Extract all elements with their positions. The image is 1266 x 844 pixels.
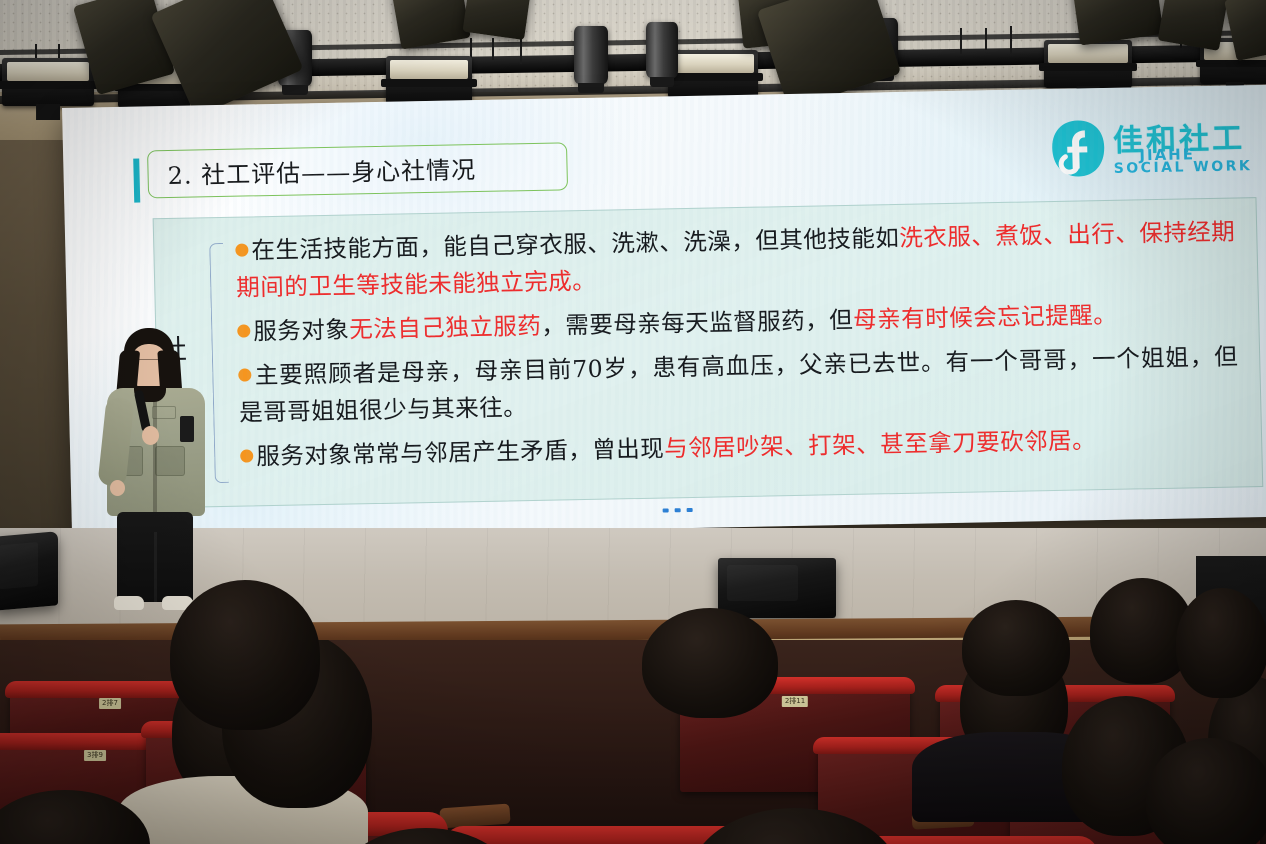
presenter-trousers — [117, 512, 193, 602]
bullet-segment: 服务对象常常与邻居产生矛盾，曾出现 — [256, 435, 665, 471]
stage-light-fixture — [2, 58, 94, 106]
cable-hook — [985, 28, 987, 50]
audience-member — [962, 600, 1070, 696]
seat-number-plate: 2排7 — [99, 698, 121, 709]
bullet-dot-icon — [240, 449, 253, 462]
page-dot — [663, 508, 669, 512]
stage-monitor-center — [718, 558, 836, 618]
audience-member — [170, 580, 320, 730]
slide-content: 2. 社工评估——身心社情况 佳和社工 JIAHE SOCIAL WORK 社 … — [62, 85, 1266, 540]
presenter-pocket-right — [155, 446, 185, 476]
seat-number-plate: 2排11 — [782, 696, 808, 707]
presenter-hand-right — [142, 426, 159, 445]
presenter-arm-patch — [180, 416, 194, 442]
seat-number-plate: 3排9 — [84, 750, 106, 761]
presenter-shoe-left — [114, 596, 144, 610]
slide-title: 2. 社工评估——身心社情况 — [167, 148, 568, 196]
stage-light-fixture — [386, 56, 472, 104]
presenter — [100, 328, 210, 618]
logo-name-en-line2: SOCIAL WORK — [1114, 158, 1253, 177]
page-dot — [675, 508, 681, 512]
organization-logo: 佳和社工 JIAHE SOCIAL WORK — [1048, 113, 1266, 185]
bullet-segment-highlight: 无法自己独立服药 — [349, 312, 542, 344]
stage-monitor-left — [0, 531, 58, 611]
presenter-chest-pocket — [152, 406, 176, 419]
title-accent-bar — [133, 159, 140, 203]
bullet-dot-icon — [238, 368, 251, 381]
audience-member — [642, 608, 778, 718]
bullet-segment: ，需要母亲每天监督服药，但 — [541, 306, 854, 340]
bullet-list: 在生活技能方面，能自己穿衣服、洗漱、洗澡，但其他技能如洗衣服、煮饭、出行、保持经… — [235, 214, 1241, 483]
bullet-segment: 主要照顾者是母亲，母亲目前70岁，患有高血压，父亲已去世。有一个哥哥，一个姐姐，… — [239, 342, 1239, 426]
bullet-segment: 服务对象 — [253, 316, 350, 346]
seat-armrest — [439, 804, 510, 829]
bullet-segment-highlight: 母亲有时候会忘记提醒。 — [853, 301, 1118, 334]
cable-hook — [960, 28, 962, 54]
cable-hook — [520, 36, 522, 64]
stage-light-fixture — [1044, 40, 1132, 88]
list-item: 主要照顾者是母亲，母亲目前70岁，患有高血压，父亲已去世。有一个哥哥，一个姐姐，… — [238, 338, 1240, 431]
screenshot-root: 2. 社工评估——身心社情况 佳和社工 JIAHE SOCIAL WORK 社 … — [0, 0, 1266, 844]
bullet-dot-icon — [235, 243, 248, 256]
stage-light-fixture — [668, 50, 758, 98]
projection-screen: 2. 社工评估——身心社情况 佳和社工 JIAHE SOCIAL WORK 社 … — [62, 85, 1266, 540]
par-can-light — [574, 26, 608, 84]
par-can-light — [646, 22, 678, 78]
bullet-segment-highlight: 与邻居吵架、打架、甚至拿刀要砍邻居。 — [664, 426, 1097, 462]
cable-hook — [492, 38, 494, 60]
page-dot — [687, 508, 693, 512]
presenter-hand-left — [110, 480, 125, 496]
bullet-segment: 在生活技能方面，能自己穿衣服、洗漱、洗澡，但其他技能如 — [251, 224, 900, 264]
slide-page-indicator — [663, 508, 693, 513]
audience-member — [1176, 588, 1266, 698]
jiahe-emblem-icon — [1049, 118, 1108, 179]
bullet-dot-icon — [237, 324, 250, 337]
cable-hook — [1010, 26, 1012, 54]
